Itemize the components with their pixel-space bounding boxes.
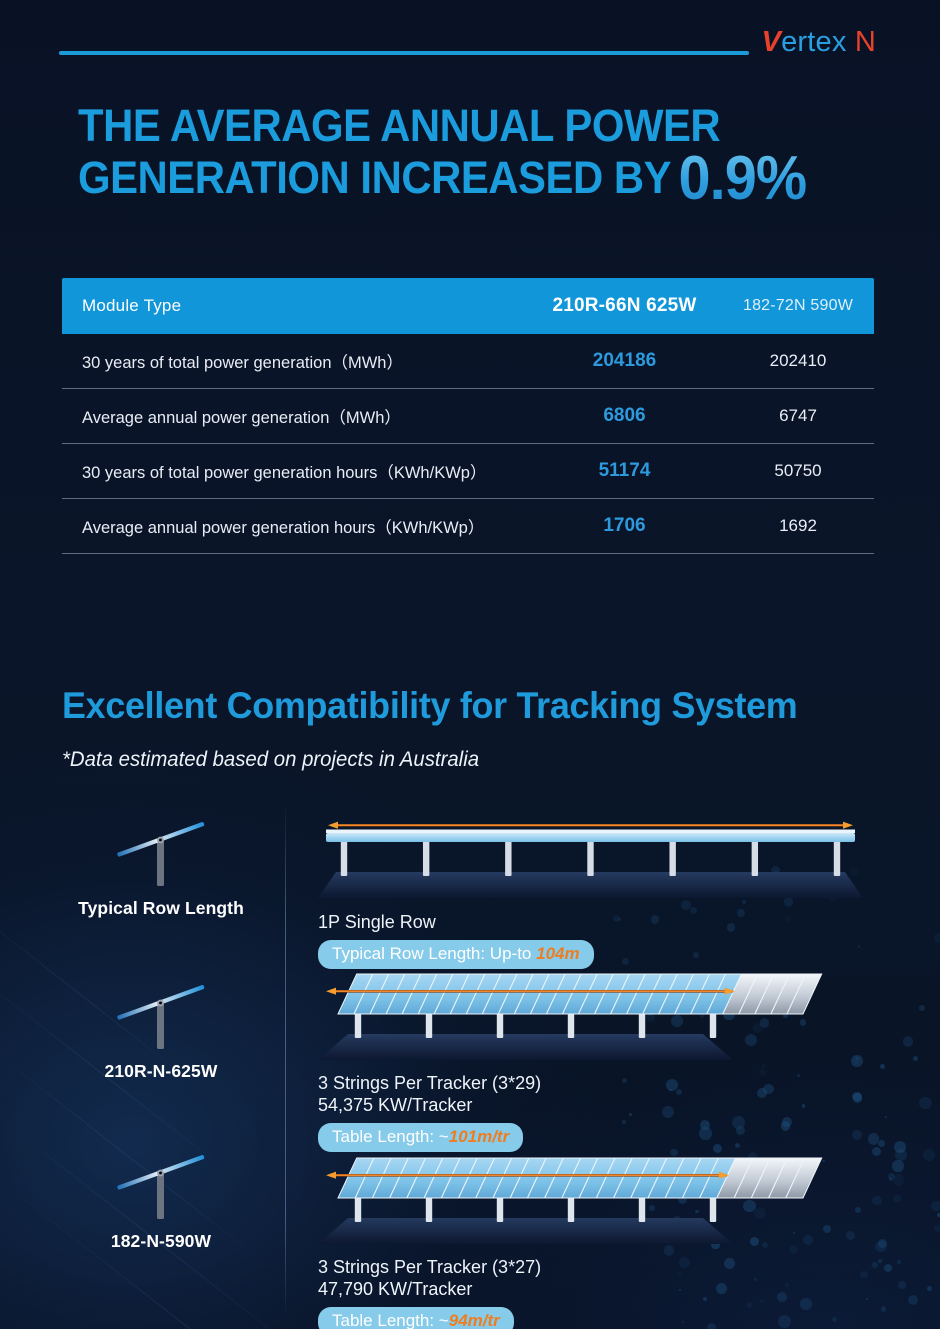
tracker-length-badge: Typical Row Length: Up-to 104m — [318, 940, 594, 969]
tracker-row: 3 Strings Per Tracker (3*29)54,375 KW/Tr… — [318, 968, 878, 1152]
table-row: 30 years of total power generation（MWh）2… — [62, 334, 874, 389]
decorative-dot — [913, 1056, 918, 1061]
tracker-icon-label: 182-N-590W — [46, 1231, 276, 1252]
logo-ertex-text: ertex — [781, 26, 846, 58]
decorative-dot — [898, 1281, 906, 1289]
decorative-dot — [878, 1239, 887, 1248]
badge-prefix: Table Length: ~ — [332, 1127, 449, 1146]
decorative-dot — [934, 1225, 940, 1232]
tracker-row: 1P Single RowTypical Row Length: Up-to 1… — [318, 812, 878, 969]
tracker-caption-line-1: 3 Strings Per Tracker (3*27) — [318, 1257, 541, 1277]
table-header-row: Module Type 210R-66N 625W 182-72N 590W — [62, 278, 874, 334]
decorative-dot — [897, 1260, 901, 1264]
single-axis-tracker-icon — [101, 975, 221, 1053]
headline-line-1: THE AVERAGE ANNUAL POWER — [78, 100, 720, 151]
badge-value: 101m/tr — [449, 1127, 509, 1146]
tracker-row-caption: 3 Strings Per Tracker (3*27)47,790 KW/Tr… — [318, 1256, 878, 1300]
tracker-row-caption: 3 Strings Per Tracker (3*29)54,375 KW/Tr… — [318, 1072, 878, 1116]
decorative-dot — [888, 1173, 895, 1180]
page-title: THE AVERAGE ANNUAL POWER GENERATION INCR… — [78, 100, 822, 205]
decorative-dot — [881, 1306, 887, 1312]
table-body: 30 years of total power generation（MWh）2… — [62, 334, 874, 554]
table-header-col-b: 182-72N 590W — [722, 297, 874, 315]
logo-v-mark: V — [762, 26, 782, 58]
decorative-dot — [919, 1005, 925, 1011]
headline-percent: 0.9% — [679, 144, 807, 213]
table-cell-value-a: 51174 — [527, 460, 722, 482]
table-cell-value-b: 6747 — [722, 406, 874, 426]
decorative-dot — [919, 1097, 932, 1110]
decorative-dot — [894, 1141, 906, 1153]
decorative-dot — [895, 1149, 907, 1161]
decorative-dot — [934, 933, 940, 943]
section-title: Excellent Compatibility for Tracking Sys… — [62, 685, 797, 727]
single-axis-tracker-icon — [101, 1145, 221, 1223]
tracker-graphic — [318, 1152, 878, 1252]
tracker-icon-label: 210R-N-625W — [46, 1061, 276, 1082]
table-cell-value-b: 202410 — [722, 351, 874, 371]
table-cell-label: Average annual power generation hours（KW… — [62, 514, 527, 538]
decorative-dot — [893, 1195, 900, 1202]
decorative-dot — [878, 1140, 886, 1148]
decorative-dot — [923, 1149, 934, 1160]
decorative-dot — [889, 1178, 893, 1182]
table-cell-label: 30 years of total power generation（MWh） — [62, 349, 527, 373]
table-header-label: Module Type — [62, 296, 527, 316]
badge-prefix: Table Length: ~ — [332, 1311, 449, 1329]
tracker-row: 3 Strings Per Tracker (3*27)47,790 KW/Tr… — [318, 1152, 878, 1329]
decorative-dot — [885, 1116, 888, 1119]
table-cell-label: Average annual power generation（MWh） — [62, 404, 527, 428]
table-cell-value-a: 6806 — [527, 405, 722, 427]
tracker-icon-block: 210R-N-625W — [46, 975, 276, 1082]
badge-prefix: Typical Row Length: Up-to — [332, 944, 536, 963]
table-header-col-a: 210R-66N 625W — [527, 295, 722, 317]
table-row: Average annual power generation hours（KW… — [62, 499, 874, 554]
tracker-diagram-panel-array — [318, 1152, 823, 1247]
table-row: Average annual power generation（MWh）6806… — [62, 389, 874, 444]
table-cell-value-a: 1706 — [527, 515, 722, 537]
tracker-length-badge: Table Length: ~101m/tr — [318, 1123, 523, 1152]
tracker-graphic — [318, 812, 878, 907]
table-cell-label: 30 years of total power generation hours… — [62, 459, 527, 483]
section-subtitle: *Data estimated based on projects in Aus… — [62, 748, 479, 772]
header-rule — [59, 51, 749, 55]
decorative-dot — [931, 1201, 940, 1212]
decorative-dot — [892, 1160, 903, 1171]
tracker-caption-line-2: 54,375 KW/Tracker — [318, 1095, 472, 1115]
single-axis-tracker-icon — [101, 812, 221, 890]
decorative-dot — [903, 1036, 913, 1046]
tracker-icon-block: 182-N-590W — [46, 1145, 276, 1252]
tracker-length-badge: Table Length: ~94m/tr — [318, 1307, 514, 1329]
decorative-dot — [927, 1286, 932, 1291]
decorative-dot — [878, 1259, 882, 1263]
tracker-caption-line-1: 3 Strings Per Tracker (3*29) — [318, 1073, 541, 1093]
logo-n-text: N — [855, 26, 876, 58]
headline-line-2: GENERATION INCREASED BY — [78, 152, 671, 203]
tracker-icon-block: Typical Row Length — [46, 812, 276, 919]
decorative-dot — [880, 1064, 885, 1069]
table-cell-value-b: 1692 — [722, 516, 874, 536]
comparison-table: Module Type 210R-66N 625W 182-72N 590W 3… — [62, 278, 874, 554]
decorative-dot — [908, 1295, 918, 1305]
vertex-n-logo: Vertex N — [762, 26, 876, 59]
column-divider — [285, 800, 286, 1320]
tracker-graphic — [318, 968, 878, 1068]
decorative-dot — [884, 1264, 892, 1272]
tracker-icon-label: Typical Row Length — [46, 898, 276, 919]
infographic-page: Vertex N THE AVERAGE ANNUAL POWER GENERA… — [0, 0, 940, 1329]
decorative-dot — [893, 1174, 904, 1185]
tracker-diagram-panel-array — [318, 968, 823, 1063]
table-row: 30 years of total power generation hours… — [62, 444, 874, 499]
badge-value: 104m — [536, 944, 579, 963]
tracker-diagram-1p-single-row — [318, 812, 863, 902]
table-cell-value-b: 50750 — [722, 461, 874, 481]
badge-value: 94m/tr — [449, 1311, 500, 1329]
table-cell-value-a: 204186 — [527, 350, 722, 372]
tracker-row-caption: 1P Single Row — [318, 911, 878, 933]
tracker-caption-line-2: 47,790 KW/Tracker — [318, 1279, 472, 1299]
tracker-caption-line-1: 1P Single Row — [318, 912, 436, 932]
